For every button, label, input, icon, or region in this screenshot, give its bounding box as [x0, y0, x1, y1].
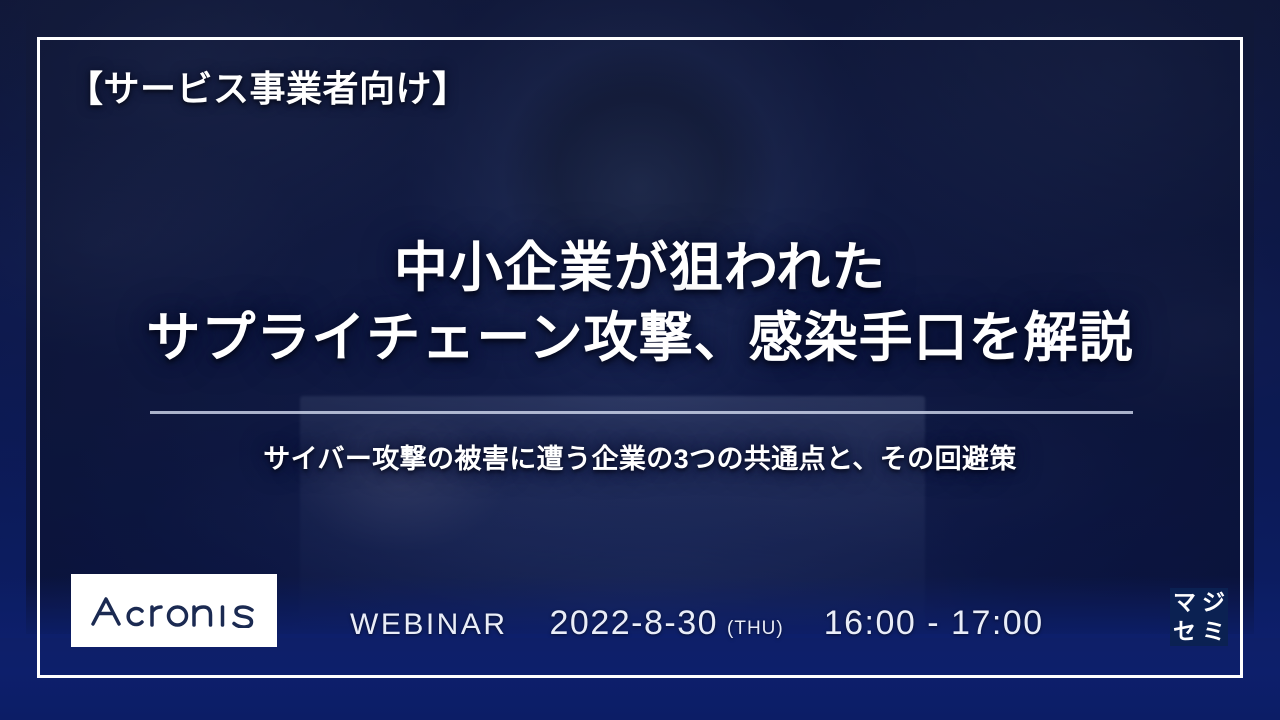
majisemi-badge: マ ジ セ ミ	[1170, 588, 1228, 646]
majisemi-char-1: マ	[1173, 591, 1196, 614]
headline-divider-rule	[150, 411, 1133, 414]
webinar-label: WEBINAR	[350, 608, 508, 642]
webinar-date: 2022-8-30	[550, 604, 719, 643]
majisemi-char-4: ミ	[1202, 620, 1225, 643]
acronis-logo-plate	[71, 574, 277, 647]
acronis-logo-icon	[91, 594, 257, 628]
audience-kicker: 【サービス事業者向け】	[67, 68, 469, 110]
majisemi-char-3: セ	[1173, 620, 1196, 643]
webinar-banner: 【サービス事業者向け】 中小企業が狙われた サプライチェーン攻撃、感染手口を解説…	[0, 0, 1280, 720]
webinar-time: 16:00 - 17:00	[824, 604, 1044, 643]
headline-block: 中小企業が狙われた サプライチェーン攻撃、感染手口を解説	[0, 238, 1280, 369]
webinar-meta: WEBINAR 2022-8-30 (THU) 16:00 - 17:00	[350, 604, 1044, 650]
majisemi-char-2: ジ	[1202, 591, 1225, 614]
headline-line-1: 中小企業が狙われた	[0, 238, 1280, 298]
webinar-day: (THU)	[727, 618, 784, 640]
headline-line-2: サプライチェーン攻撃、感染手口を解説	[0, 308, 1280, 368]
subtitle: サイバー攻撃の被害に遭う企業の3つの共通点と、その回避策	[0, 437, 1280, 476]
